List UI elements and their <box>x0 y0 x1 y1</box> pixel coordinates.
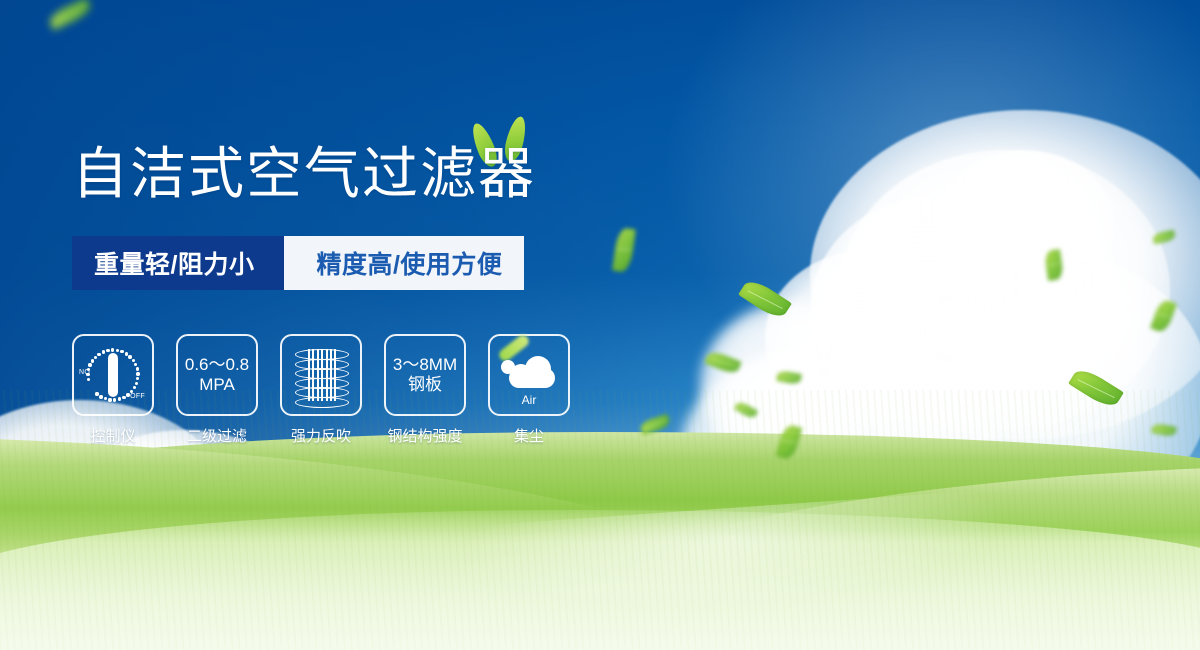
gauge-dot <box>122 396 125 399</box>
gauge-dot <box>95 392 98 395</box>
gauge-dot <box>91 359 94 362</box>
gauge-dot <box>133 386 136 389</box>
feature-item-steel[interactable]: 3～8MM 钢板 钢结构强度 <box>384 334 466 446</box>
gauge-dot <box>132 359 135 362</box>
gauge-dot <box>120 350 123 353</box>
air-caption: Air <box>499 393 559 407</box>
gauge-dot <box>136 372 139 375</box>
gauge-dot <box>116 349 119 352</box>
gauge-dot <box>97 353 100 356</box>
hero-banner: 自洁式空气过滤器 重量轻/阻力小 精度高/使用方便 NO OFF 控制仪 0.6… <box>0 0 1200 650</box>
feature-icon-box: 0.6～0.8 MPA <box>176 334 258 416</box>
pressure-value-line2: MPA <box>199 375 235 395</box>
coil-bar <box>326 349 328 401</box>
gauge-dot <box>134 363 137 366</box>
feature-item-controller[interactable]: NO OFF 控制仪 <box>72 334 154 446</box>
gauge-dot <box>111 348 114 351</box>
coil-bar <box>308 349 310 401</box>
feature-label: 强力反吹 <box>291 425 351 446</box>
cloud-body <box>509 368 555 388</box>
grass-sheen <box>0 530 1200 650</box>
feature-label: 集尘 <box>514 425 544 446</box>
feature-icon-box: Air <box>488 334 570 416</box>
gauge-dot <box>99 395 102 398</box>
cloud-air-icon: Air <box>499 346 559 404</box>
coil-bar <box>334 349 336 401</box>
feature-item-pressure[interactable]: 0.6～0.8 MPA 二级过滤 <box>176 334 258 446</box>
feature-list: NO OFF 控制仪 0.6～0.8 MPA 二级过滤 强力反吹 3～8MM <box>72 334 570 446</box>
feature-label: 控制仪 <box>90 425 135 446</box>
gauge-dot <box>136 377 139 380</box>
feature-label: 二级过滤 <box>187 425 247 446</box>
steel-value-line1: 3～8MM <box>393 355 457 375</box>
page-title: 自洁式空气过滤器 <box>72 146 536 202</box>
coil-bar <box>321 349 323 401</box>
gauge-dot <box>87 378 90 381</box>
subtitle-left-panel: 重量轻/阻力小 <box>72 236 284 290</box>
gauge-icon: NO OFF <box>82 345 144 405</box>
coil-filter-icon <box>293 346 349 404</box>
feature-label: 钢结构强度 <box>387 425 462 446</box>
gauge-dot <box>113 398 116 401</box>
steel-value-line2: 钢板 <box>408 375 442 395</box>
feature-item-dust[interactable]: Air 集尘 <box>488 334 570 446</box>
gauge-no-label: NO <box>79 369 90 376</box>
gauge-dot <box>135 382 138 385</box>
gauge-dot <box>128 355 131 358</box>
feature-item-blowback[interactable]: 强力反吹 <box>280 334 362 446</box>
gauge-dot <box>102 350 105 353</box>
feature-icon-box: 3～8MM 钢板 <box>384 334 466 416</box>
pressure-value-line1: 0.6～0.8 <box>185 355 249 375</box>
coil-bar <box>312 349 314 401</box>
feature-icon-box <box>280 334 362 416</box>
gauge-dot <box>108 398 111 401</box>
subtitle-right-panel: 精度高/使用方便 <box>284 236 524 290</box>
gauge-dot <box>104 397 107 400</box>
coil-bar <box>330 349 332 401</box>
gauge-dot <box>94 356 97 359</box>
gauge-dot <box>106 349 109 352</box>
subtitle-bar: 重量轻/阻力小 精度高/使用方便 <box>72 236 524 290</box>
leaf-swoosh-icon <box>497 333 531 363</box>
gauge-dot <box>88 363 91 366</box>
coil-bar <box>317 349 319 401</box>
gauge-needle <box>108 353 118 397</box>
gauge-dot <box>118 397 121 400</box>
gauge-dot <box>136 367 139 370</box>
gauge-off-label: OFF <box>130 393 145 400</box>
feature-icon-box: NO OFF <box>72 334 154 416</box>
